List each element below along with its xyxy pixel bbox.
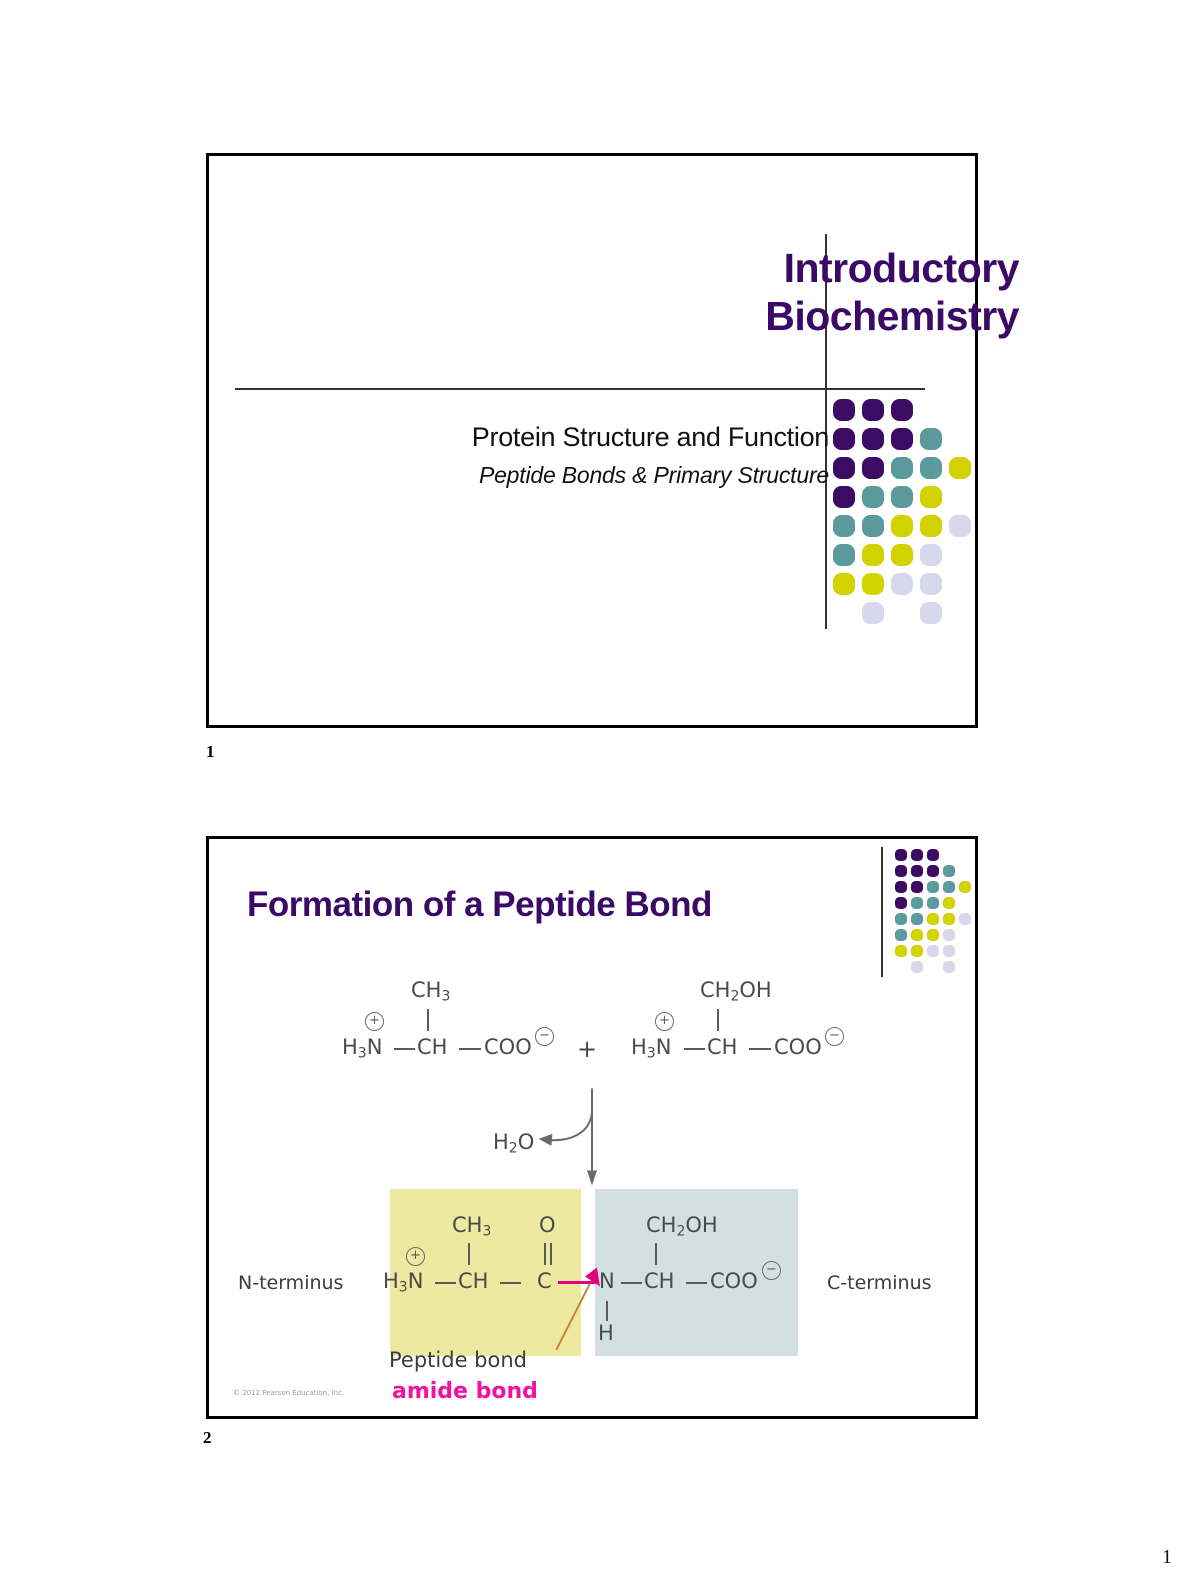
product-bond-ca1-carbonyl xyxy=(500,1282,521,1284)
product-residue1-side-chain: CH3 xyxy=(452,1213,491,1240)
dot-purple-icon xyxy=(891,399,913,421)
product-n-terminal-amino: H3N xyxy=(383,1269,423,1296)
slide-2-number: 2 xyxy=(203,1428,212,1448)
page-number: 1 xyxy=(1162,1546,1172,1569)
product-amide-nitrogen: N xyxy=(599,1269,615,1293)
slide1-title-line2: Biochemistry xyxy=(539,292,1019,340)
copyright-notice: © 2012 Pearson Education, Inc. xyxy=(233,1389,344,1397)
product-carboxyl-group: COO xyxy=(710,1269,758,1293)
product-bond-n-ca2 xyxy=(621,1282,642,1284)
peptide-bond-label: Peptide bond xyxy=(389,1348,527,1372)
product-residue2-side-chain-bond xyxy=(655,1243,657,1265)
product-residue2-side-chain: CH2OH xyxy=(646,1213,718,1240)
dot-purple-icon xyxy=(833,486,855,508)
dot-yellow-icon xyxy=(949,457,971,479)
dot-purple-icon xyxy=(862,399,884,421)
dot-lavender-icon xyxy=(949,515,971,537)
reactant1-bond-ca-coo xyxy=(459,1048,481,1050)
product-carbonyl-carbon: C xyxy=(537,1269,552,1293)
dot-purple-icon xyxy=(833,399,855,421)
dot-yellow-icon xyxy=(920,486,942,508)
dot-purple-icon xyxy=(891,428,913,450)
slide1-title-line1: Introductory xyxy=(539,244,1019,292)
product-carbonyl-double-bond-b xyxy=(550,1243,552,1265)
dot-yellow-icon xyxy=(833,573,855,595)
dot-teal-icon xyxy=(862,486,884,508)
dot-lavender-icon xyxy=(891,573,913,595)
product-residue1-side-chain-bond xyxy=(468,1243,470,1265)
dot-teal-icon xyxy=(891,486,913,508)
dot-lavender-icon xyxy=(920,544,942,566)
dot-teal-icon xyxy=(891,457,913,479)
dot-yellow-icon xyxy=(920,515,942,537)
product-positive-charge-icon: + xyxy=(406,1247,425,1266)
product-residue1-alpha-carbon: CH xyxy=(458,1269,488,1293)
reactant2-amino-group: H3N xyxy=(631,1035,671,1062)
dot-yellow-icon xyxy=(891,544,913,566)
product-bond-n-ca1 xyxy=(435,1282,456,1284)
handout-page: Introductory Biochemistry Protein Struct… xyxy=(0,0,1200,1591)
dot-purple-icon xyxy=(862,428,884,450)
dot-lavender-icon xyxy=(920,573,942,595)
reactant2-carboxyl-group: COO xyxy=(774,1035,822,1059)
product-bond-ca2-coo xyxy=(686,1282,707,1284)
dot-lavender-icon xyxy=(920,602,942,624)
peptide-bond-reaction-diagram: CH3 + H3N CH COO − + CH2OH + H3N CH COO … xyxy=(209,839,975,1416)
dot-teal-icon xyxy=(862,515,884,537)
dot-teal-icon xyxy=(833,515,855,537)
reactant2-bond-n-ca xyxy=(684,1048,705,1050)
dot-teal-icon xyxy=(920,457,942,479)
reactant2-side-chain: CH2OH xyxy=(700,978,772,1005)
slide1-subtitle-main: Protein Structure and Function xyxy=(269,422,829,453)
product-residue2-alpha-carbon: CH xyxy=(644,1269,674,1293)
reactant1-carboxyl-group: COO xyxy=(484,1035,532,1059)
reactant1-positive-charge-icon: + xyxy=(365,1012,384,1031)
product-negative-charge-icon: − xyxy=(762,1261,781,1280)
slide-1: Introductory Biochemistry Protein Struct… xyxy=(206,153,978,728)
dot-teal-icon xyxy=(833,544,855,566)
reactant2-alpha-carbon: CH xyxy=(707,1035,737,1059)
product-amide-nh-bond xyxy=(606,1301,608,1321)
dot-purple-icon xyxy=(833,457,855,479)
amide-bond-label: amide bond xyxy=(392,1379,538,1404)
reaction-arrows xyxy=(209,839,975,1416)
reactant1-bond-n-ca xyxy=(394,1048,415,1050)
dot-teal-icon xyxy=(920,428,942,450)
product-amide-hydrogen: H xyxy=(598,1321,614,1345)
reactant2-bond-ca-coo xyxy=(749,1048,771,1050)
product-carbonyl-oxygen: O xyxy=(539,1213,556,1237)
dot-lavender-icon xyxy=(862,602,884,624)
slide1-title: Introductory Biochemistry xyxy=(539,244,1019,341)
n-terminus-label: N-terminus xyxy=(238,1272,343,1294)
dot-yellow-icon xyxy=(891,515,913,537)
dot-yellow-icon xyxy=(862,573,884,595)
water-leaving-group: H2O xyxy=(493,1130,534,1157)
dot-purple-icon xyxy=(833,428,855,450)
reactant2-positive-charge-icon: + xyxy=(655,1012,674,1031)
dot-purple-icon xyxy=(862,457,884,479)
reactant1-alpha-carbon: CH xyxy=(417,1035,447,1059)
slide-2: Formation of a Peptide Bond CH3 + H3N CH… xyxy=(206,836,978,1419)
reactant1-negative-charge-icon: − xyxy=(535,1027,554,1046)
peptide-bond-highlight-line xyxy=(558,1281,596,1284)
product-carbonyl-double-bond-a xyxy=(544,1243,546,1265)
reactant2-side-chain-bond xyxy=(717,1009,719,1031)
reactant1-side-chain-bond xyxy=(427,1009,429,1031)
slide-1-number: 1 xyxy=(206,742,215,762)
reaction-plus-sign: + xyxy=(577,1035,597,1063)
reactant1-amino-group: H3N xyxy=(342,1035,382,1062)
reactant2-negative-charge-icon: − xyxy=(825,1027,844,1046)
dot-yellow-icon xyxy=(862,544,884,566)
reactant1-side-chain: CH3 xyxy=(411,978,450,1005)
slide1-subtitle-italic: Peptide Bonds & Primary Structure xyxy=(269,462,829,489)
slide1-horizontal-rule xyxy=(235,388,925,390)
c-terminus-label: C-terminus xyxy=(827,1272,932,1294)
